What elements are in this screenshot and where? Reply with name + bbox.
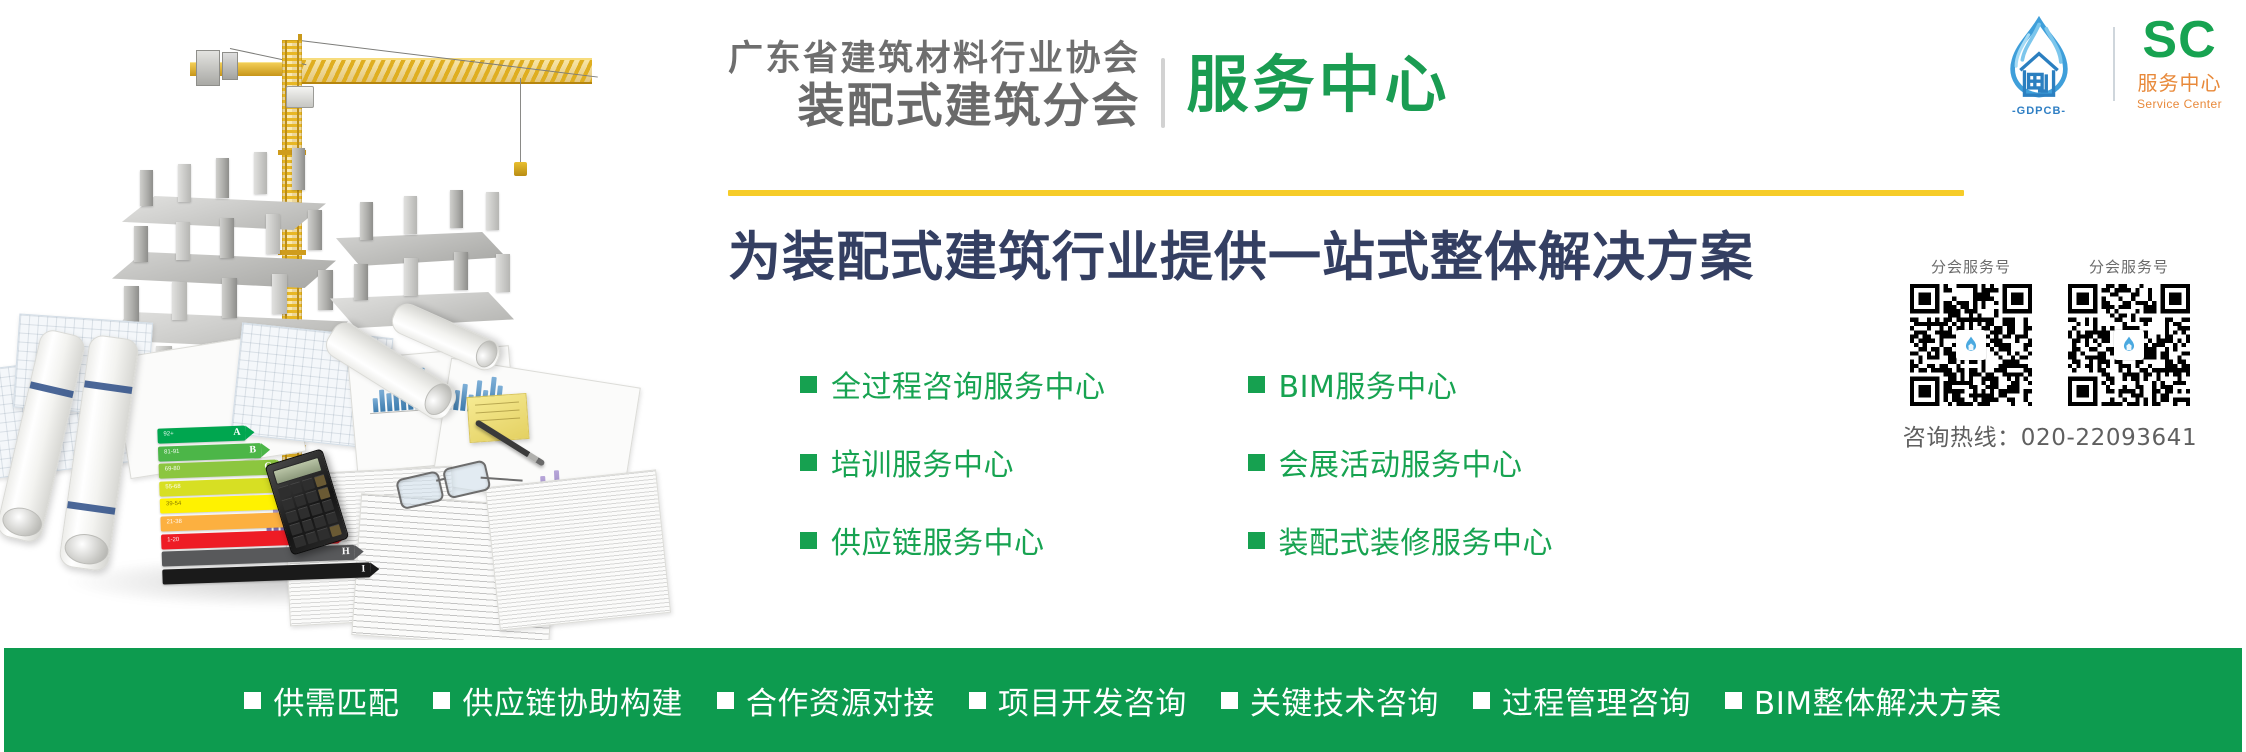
mortgage-application-document bbox=[485, 469, 671, 630]
service-item-label: 会展活动服务中心 bbox=[1279, 440, 1523, 484]
construction-illustration: 92+A 81-91B 69-80C 55-68D 39-54E 21-38F … bbox=[0, 0, 700, 640]
square-bullet-icon bbox=[1221, 692, 1238, 709]
footer-item-label: 供需匹配 bbox=[273, 678, 399, 723]
footer-item[interactable]: BIM整体解决方案 bbox=[1725, 678, 2002, 723]
column bbox=[404, 196, 417, 234]
qr-contact-block: 分会服务号 分会服务号 bbox=[1870, 256, 2230, 452]
association-name-line1: 广东省建筑材料行业协会 bbox=[728, 42, 1141, 77]
service-item-label: BIM服务中心 bbox=[1279, 362, 1458, 406]
brand-divider bbox=[2113, 27, 2115, 101]
qr-code-icon[interactable] bbox=[1910, 284, 2032, 406]
qr-center-logo bbox=[1956, 330, 1986, 360]
column bbox=[134, 226, 148, 262]
service-item[interactable]: 装配式装修服务中心 bbox=[1248, 518, 1554, 562]
service-item-label: 全过程咨询服务中心 bbox=[831, 362, 1106, 406]
square-bullet-icon bbox=[1725, 692, 1742, 709]
energy-bar-c: 69-80C bbox=[159, 460, 277, 479]
page-title: 服务中心 bbox=[1187, 53, 1451, 116]
column bbox=[272, 274, 287, 314]
footer-item[interactable]: 供需匹配 bbox=[244, 678, 399, 723]
footer-item-label: 项目开发咨询 bbox=[998, 678, 1187, 723]
qr-code-icon[interactable] bbox=[2068, 284, 2190, 406]
footer-item-label: 供应链协助构建 bbox=[462, 678, 683, 723]
roll-band bbox=[67, 501, 116, 515]
hotline-text: 咨询热线：020-22093641 bbox=[1870, 418, 2230, 452]
square-bullet-icon bbox=[969, 692, 986, 709]
sc-monogram: SC bbox=[2142, 17, 2216, 65]
crane-operator-cab bbox=[286, 86, 314, 108]
column bbox=[318, 270, 333, 310]
footer-item-label: 过程管理咨询 bbox=[1502, 678, 1691, 723]
qr-code-row: 分会服务号 分会服务号 bbox=[1870, 256, 2230, 406]
roof-column bbox=[216, 158, 229, 198]
crane-mast-segment bbox=[278, 250, 306, 255]
flame-house-logo-icon bbox=[1961, 335, 1981, 355]
column bbox=[404, 258, 418, 296]
service-item-label: 供应链服务中心 bbox=[831, 518, 1045, 562]
service-item[interactable]: 全过程咨询服务中心 bbox=[800, 362, 1106, 406]
roll-end bbox=[0, 504, 45, 540]
column bbox=[266, 214, 280, 254]
service-item[interactable]: 培训服务中心 bbox=[800, 440, 1106, 484]
service-center-list: 全过程咨询服务中心 培训服务中心 供应链服务中心 BIM服务中心 bbox=[800, 362, 1553, 562]
qr-cell: 分会服务号 bbox=[1910, 256, 2032, 406]
headline-divider bbox=[1161, 58, 1165, 128]
column bbox=[454, 252, 468, 290]
footer-item[interactable]: 关键技术咨询 bbox=[1221, 678, 1439, 723]
crane-counterweight-secondary bbox=[222, 52, 238, 80]
roof-column bbox=[254, 152, 267, 194]
illustration-stage: 92+A 81-91B 69-80C 55-68D 39-54E 21-38F … bbox=[0, 0, 700, 640]
association-name: 广东省建筑材料行业协会 装配式建筑分会 bbox=[728, 42, 1141, 133]
square-bullet-icon bbox=[800, 532, 817, 549]
column bbox=[450, 190, 463, 228]
sc-lockup: SC 服务中心 Service Center bbox=[2137, 17, 2222, 111]
column bbox=[222, 278, 237, 318]
crane-hoist-line bbox=[520, 78, 521, 164]
energy-bar-b: 81-91B bbox=[158, 443, 261, 462]
crane-counterweight bbox=[196, 50, 220, 86]
column bbox=[172, 282, 187, 320]
footer-item-label: BIM整体解决方案 bbox=[1754, 678, 2002, 723]
column bbox=[308, 210, 322, 250]
square-bullet-icon bbox=[244, 692, 261, 709]
footer-item-label: 关键技术咨询 bbox=[1250, 678, 1439, 723]
column bbox=[486, 192, 499, 230]
calculator-keypad bbox=[278, 474, 342, 548]
column bbox=[176, 222, 190, 260]
column bbox=[124, 286, 139, 322]
column bbox=[220, 218, 234, 258]
footer-item[interactable]: 项目开发咨询 bbox=[969, 678, 1187, 723]
footer-item-list: 供需匹配 供应链协助构建 合作资源对接 项目开发咨询 关键技术咨询 过程管理咨询 bbox=[244, 678, 2001, 723]
footer-item[interactable]: 供应链协助构建 bbox=[433, 678, 683, 723]
qr-cell: 分会服务号 bbox=[2068, 256, 2190, 406]
footer-item[interactable]: 过程管理咨询 bbox=[1473, 678, 1691, 723]
roof-column bbox=[178, 164, 191, 202]
column bbox=[360, 202, 373, 240]
banner-content: 广东省建筑材料行业协会 装配式建筑分会 服务中心 为装配式建筑行业提供一站式整体… bbox=[700, 0, 2246, 648]
gdpcb-wordmark: -GDPCB- bbox=[1987, 105, 2091, 117]
square-bullet-icon bbox=[1248, 454, 1265, 471]
footer-item[interactable]: 合作资源对接 bbox=[717, 678, 935, 723]
service-column-right: BIM服务中心 会展活动服务中心 装配式装修服务中心 bbox=[1248, 362, 1554, 562]
qr-caption: 分会服务号 bbox=[1931, 256, 2011, 277]
square-bullet-icon bbox=[717, 692, 734, 709]
sticky-note-line bbox=[475, 402, 519, 406]
sticky-note-line bbox=[476, 409, 520, 413]
sticky-note-line bbox=[476, 417, 520, 421]
qr-caption: 分会服务号 bbox=[2089, 256, 2169, 277]
roll-band bbox=[84, 380, 133, 394]
square-bullet-icon bbox=[800, 376, 817, 393]
square-bullet-icon bbox=[433, 692, 450, 709]
service-center-banner: 92+A 81-91B 69-80C 55-68D 39-54E 21-38F … bbox=[0, 0, 2246, 752]
tagline: 为装配式建筑行业提供一站式整体解决方案 bbox=[728, 215, 1754, 291]
roll-band bbox=[29, 381, 73, 398]
roof-column bbox=[140, 170, 153, 206]
column bbox=[496, 254, 510, 292]
service-item[interactable]: 供应链服务中心 bbox=[800, 518, 1106, 562]
footer-bar: 供需匹配 供应链协助构建 合作资源对接 项目开发咨询 关键技术咨询 过程管理咨询 bbox=[4, 648, 2242, 752]
gdpcb-logo: -GDPCB- bbox=[1987, 12, 2091, 116]
association-name-line2: 装配式建筑分会 bbox=[798, 82, 1141, 133]
brand-lockup: -GDPCB- SC 服务中心 Service Center bbox=[1987, 12, 2222, 116]
energy-bar-a: 92+A bbox=[157, 426, 245, 444]
headline-block: 广东省建筑材料行业协会 装配式建筑分会 服务中心 bbox=[728, 42, 1451, 133]
sc-chinese-label: 服务中心 bbox=[2138, 67, 2222, 96]
qr-center-logo bbox=[2114, 330, 2144, 360]
sc-english-label: Service Center bbox=[2137, 97, 2222, 111]
service-column-left: 全过程咨询服务中心 培训服务中心 供应链服务中心 bbox=[800, 362, 1106, 562]
service-item-label: 培训服务中心 bbox=[831, 440, 1014, 484]
square-bullet-icon bbox=[1473, 692, 1490, 709]
column bbox=[354, 264, 368, 300]
footer-item-label: 合作资源对接 bbox=[746, 678, 935, 723]
service-item[interactable]: BIM服务中心 bbox=[1248, 362, 1554, 406]
flame-house-logo-icon bbox=[1987, 12, 2091, 116]
crane-hook bbox=[514, 162, 527, 176]
service-item[interactable]: 会展活动服务中心 bbox=[1248, 440, 1554, 484]
square-bullet-icon bbox=[800, 454, 817, 471]
yellow-divider bbox=[728, 190, 1964, 196]
square-bullet-icon bbox=[1248, 376, 1265, 393]
roll-end bbox=[63, 531, 111, 567]
flame-house-logo-icon bbox=[2119, 335, 2139, 355]
square-bullet-icon bbox=[1248, 532, 1265, 549]
roof-column bbox=[292, 148, 305, 190]
service-item-label: 装配式装修服务中心 bbox=[1279, 518, 1554, 562]
